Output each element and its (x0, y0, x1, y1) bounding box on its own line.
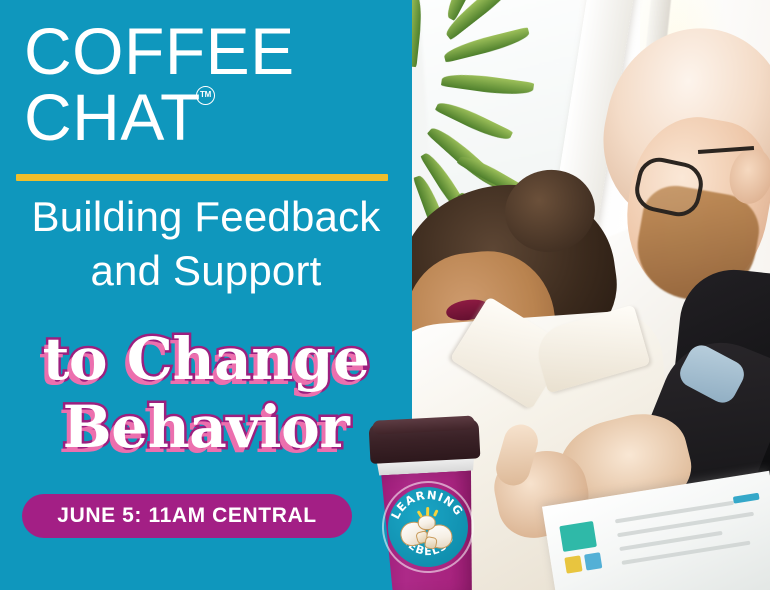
learning-rebels-badge: LEARNING REBELS® (386, 485, 470, 569)
date-time-badge: JUNE 5: 11AM CENTRAL (22, 494, 352, 538)
subtitle-line-1: Building Feedback (0, 194, 412, 239)
teal-content-panel: COFFEE CHAT TM Building Feedback and Sup… (0, 0, 412, 590)
date-time-label: JUNE 5: 11AM CENTRAL (57, 504, 316, 528)
gold-divider (16, 174, 388, 181)
learning-rebels-coffee-cup: LEARNING REBELS® (366, 418, 489, 590)
headline-line-2: Behavior (0, 398, 412, 456)
subtitle-line-2: and Support (0, 248, 412, 293)
headline-line-1: to Change (0, 330, 412, 388)
title-line-chat: CHAT (24, 84, 201, 150)
coffee-chat-promo-graphic: COFFEE CHAT TM Building Feedback and Sup… (0, 0, 770, 590)
trademark-icon: TM (196, 86, 215, 105)
spark-icon (426, 507, 429, 516)
title-line-coffee: COFFEE (24, 18, 295, 84)
